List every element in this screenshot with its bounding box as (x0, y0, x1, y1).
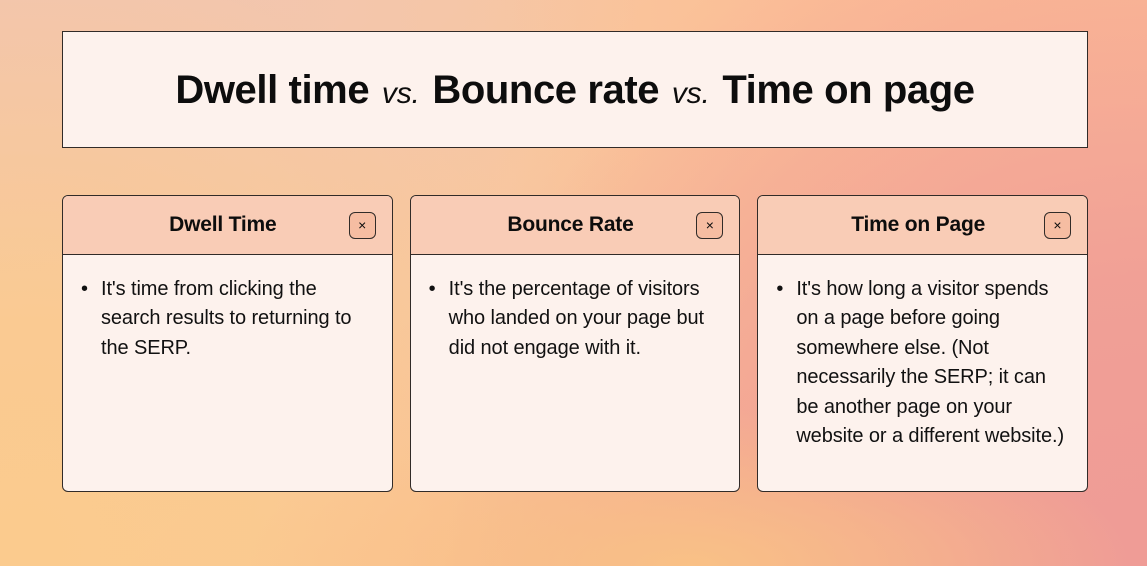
title-separator-2: vs. (670, 77, 712, 110)
list-item-text: It's the percentage of visitors who land… (449, 275, 724, 363)
bullet-icon: • (776, 275, 796, 304)
comparison-cards-row: Dwell Time × • It's time from clicking t… (62, 195, 1088, 492)
card-title-bounce-rate: Bounce Rate (411, 213, 697, 237)
card-header-time-on-page: Time on Page × (758, 196, 1087, 255)
list-item: • It's time from clicking the search res… (81, 275, 376, 363)
card-dwell-time: Dwell Time × • It's time from clicking t… (62, 195, 393, 492)
bullet-icon: • (429, 275, 449, 304)
title-separator-1: vs. (380, 77, 422, 110)
card-body-dwell-time: • It's time from clicking the search res… (63, 255, 392, 491)
card-bounce-rate: Bounce Rate × • It's the percentage of v… (410, 195, 741, 492)
slide-content: Dwell time vs. Bounce rate vs. Time on p… (62, 31, 1088, 496)
close-icon[interactable]: × (1044, 212, 1071, 239)
close-icon[interactable]: × (349, 212, 376, 239)
card-body-bounce-rate: • It's the percentage of visitors who la… (411, 255, 740, 491)
bullet-list-bounce-rate: • It's the percentage of visitors who la… (429, 275, 724, 363)
slide-canvas: Dwell time vs. Bounce rate vs. Time on p… (0, 0, 1147, 566)
title-term-dwell-time: Dwell time (175, 68, 369, 112)
list-item-text: It's time from clicking the search resul… (101, 275, 376, 363)
close-icon[interactable]: × (696, 212, 723, 239)
list-item: • It's how long a visitor spends on a pa… (776, 275, 1071, 451)
title-banner: Dwell time vs. Bounce rate vs. Time on p… (62, 31, 1088, 148)
card-title-dwell-time: Dwell Time (63, 213, 349, 237)
card-time-on-page: Time on Page × • It's how long a visitor… (757, 195, 1088, 492)
title-term-bounce-rate: Bounce rate (432, 68, 659, 112)
card-body-time-on-page: • It's how long a visitor spends on a pa… (758, 255, 1087, 491)
list-item-text: It's how long a visitor spends on a page… (796, 275, 1071, 451)
page-title: Dwell time vs. Bounce rate vs. Time on p… (175, 68, 974, 112)
bullet-list-dwell-time: • It's time from clicking the search res… (81, 275, 376, 363)
card-header-bounce-rate: Bounce Rate × (411, 196, 740, 255)
bullet-list-time-on-page: • It's how long a visitor spends on a pa… (776, 275, 1071, 451)
card-title-time-on-page: Time on Page (758, 213, 1044, 237)
list-item: • It's the percentage of visitors who la… (429, 275, 724, 363)
title-term-time-on-page: Time on page (722, 68, 974, 112)
bullet-icon: • (81, 275, 101, 304)
card-header-dwell-time: Dwell Time × (63, 196, 392, 255)
